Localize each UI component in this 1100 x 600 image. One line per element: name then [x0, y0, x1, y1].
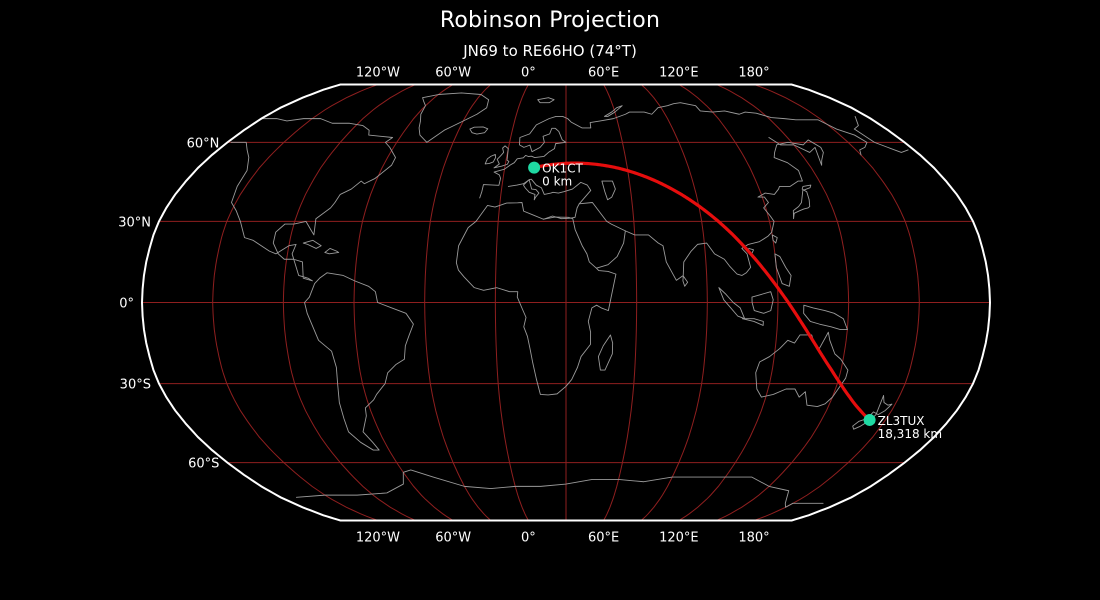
lon-tick-bottom-3: 120°E — [659, 531, 699, 546]
station-marker-ok1ct[interactable]: OK1CT0 km — [528, 162, 583, 189]
lat-tick-1: 30°N — [118, 215, 151, 230]
coastline-15 — [231, 119, 395, 281]
station-callsign: OK1CT — [542, 162, 583, 176]
coastline-0 — [456, 203, 616, 395]
graticule-layer — [142, 85, 990, 521]
station-marker-zl3tux[interactable]: ZL3TUX18,318 km — [864, 414, 942, 441]
coastline-12 — [742, 319, 763, 326]
coastline-20 — [470, 127, 488, 134]
coastline-16 — [419, 93, 489, 142]
coastline-21 — [602, 181, 615, 200]
station-dot[interactable] — [864, 414, 876, 426]
coastline-22 — [596, 231, 625, 268]
coastline-8 — [756, 332, 848, 406]
coastline-25 — [683, 276, 688, 286]
coastline-24 — [325, 248, 339, 253]
lon-tick-bottom-0: 60°W — [435, 531, 471, 546]
lat-tick-3: 30°S — [120, 378, 151, 393]
station-markers[interactable]: OK1CT0 kmZL3TUX18,318 km — [528, 162, 942, 441]
coastline-1 — [480, 103, 867, 198]
lon-tick-top-1: 0° — [521, 66, 536, 81]
coastline-9 — [804, 305, 848, 329]
coastline-19 — [598, 335, 612, 370]
lon-tick-top-4: 180° — [738, 66, 769, 81]
lon-tick-bottom-1: 0° — [521, 531, 536, 546]
lat-tick-4: 60°S — [188, 457, 219, 472]
coastline-15 — [854, 116, 858, 129]
lon-tick-top-5: 120°W — [356, 66, 400, 81]
lat-tick-0: 60°N — [187, 136, 220, 151]
lon-tick-top-2: 60°E — [588, 66, 619, 81]
coastline-5 — [485, 154, 495, 164]
robinson-map[interactable]: OK1CT0 kmZL3TUX18,318 km 60°W0°60°E120°E… — [0, 0, 1100, 600]
lon-tick-bottom-2: 60°E — [588, 531, 619, 546]
station-callsign: ZL3TUX — [878, 414, 925, 428]
coastline-18 — [296, 470, 792, 507]
coastline-23 — [303, 240, 321, 248]
lat-tick-2: 0° — [119, 297, 134, 312]
station-distance: 0 km — [542, 175, 572, 189]
station-dot[interactable] — [528, 162, 540, 174]
coastline-layer — [231, 93, 908, 507]
axis-labels: 60°W0°60°E120°E180°120°W60°W0°60°E120°E1… — [118, 66, 769, 546]
station-distance: 18,318 km — [878, 427, 942, 441]
coastline-11 — [719, 288, 745, 319]
lon-tick-top-0: 60°W — [435, 66, 471, 81]
coastline-7 — [793, 185, 811, 219]
coastline-26 — [538, 98, 554, 103]
lon-tick-top-3: 120°E — [659, 66, 699, 81]
lon-tick-bottom-5: 120°W — [356, 531, 400, 546]
coastline-3 — [523, 180, 539, 200]
map-figure: Robinson Projection JN69 to RE66HO (74°T… — [0, 0, 1100, 600]
lon-tick-bottom-4: 180° — [738, 531, 769, 546]
